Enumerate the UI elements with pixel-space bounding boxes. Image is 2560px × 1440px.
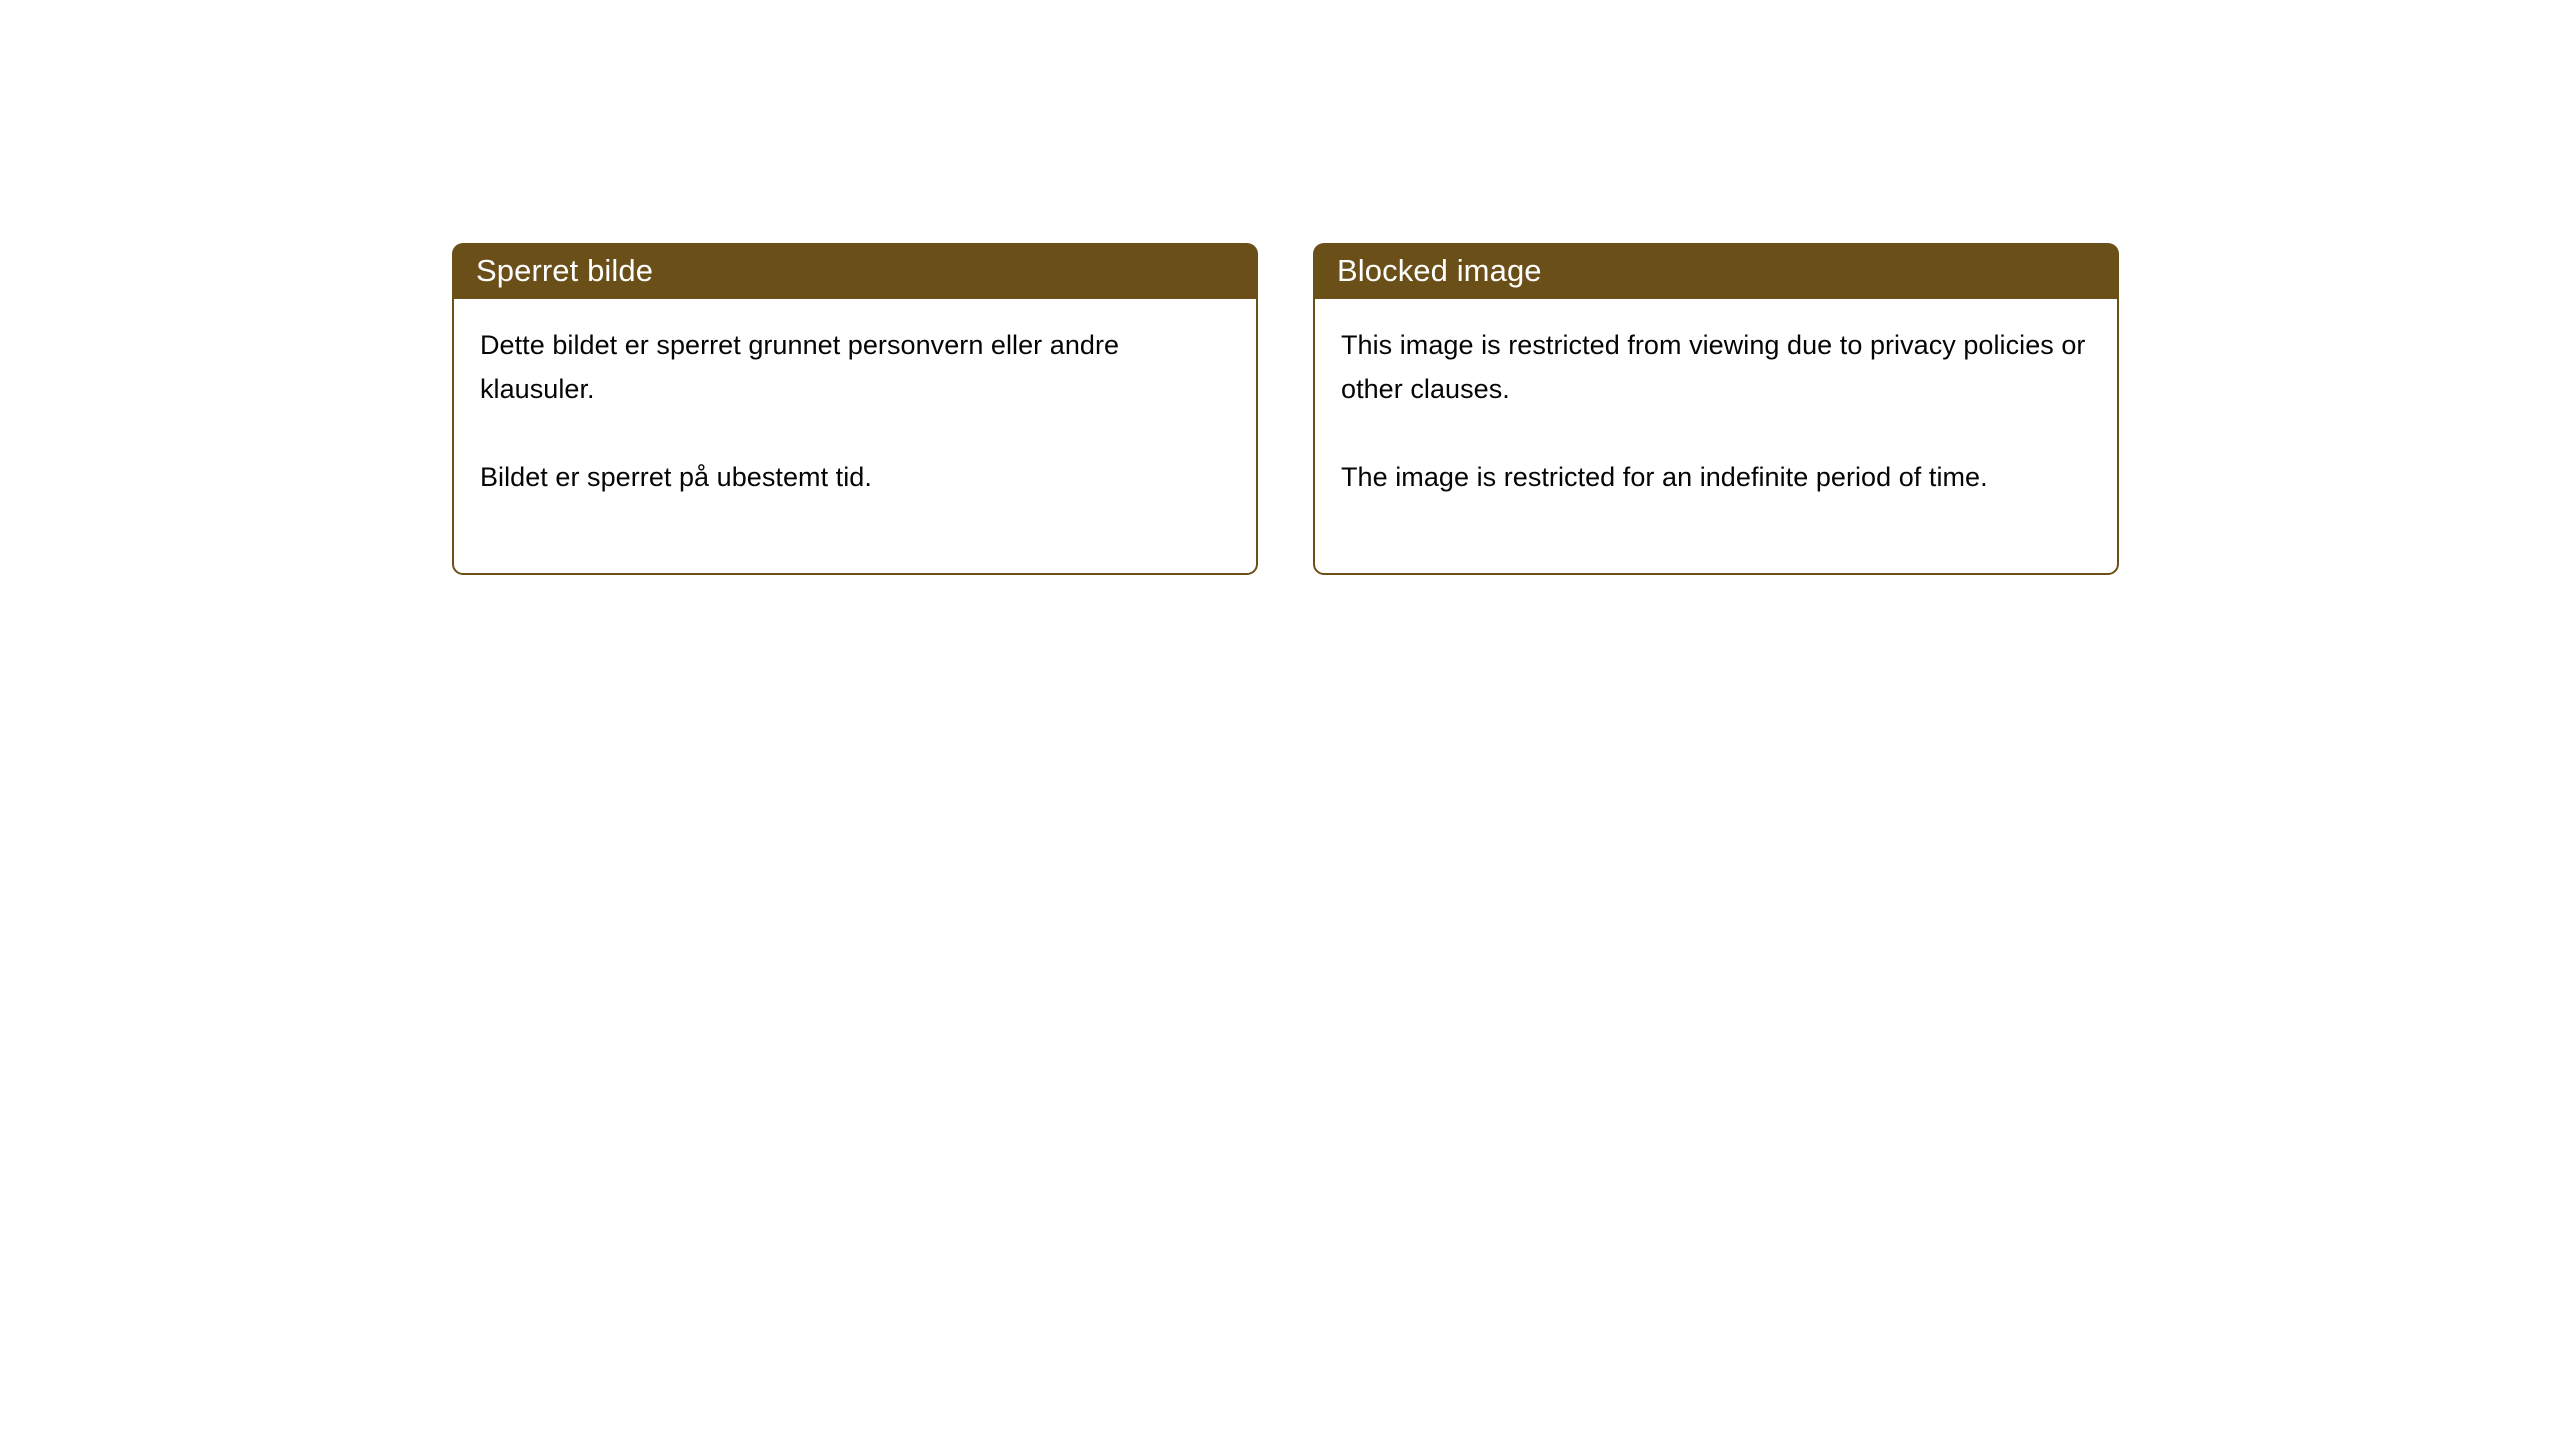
card-body-norwegian: Dette bildet er sperret grunnet personve… [452, 299, 1258, 575]
card-header-english: Blocked image [1313, 243, 2119, 299]
card-body-english: This image is restricted from viewing du… [1313, 299, 2119, 575]
card-paragraph-duration-english: The image is restricted for an indefinit… [1341, 455, 2091, 499]
card-title-english: Blocked image [1337, 254, 1542, 288]
card-paragraph-duration-norwegian: Bildet er sperret på ubestemt tid. [480, 455, 1230, 499]
blocked-image-notice-card-english: Blocked image This image is restricted f… [1313, 243, 2119, 575]
blocked-image-notice-card-norwegian: Sperret bilde Dette bildet er sperret gr… [452, 243, 1258, 575]
page-canvas: Sperret bilde Dette bildet er sperret gr… [0, 0, 2560, 1440]
card-title-norwegian: Sperret bilde [476, 254, 653, 288]
card-paragraph-reason-norwegian: Dette bildet er sperret grunnet personve… [480, 323, 1230, 411]
card-paragraph-reason-english: This image is restricted from viewing du… [1341, 323, 2091, 411]
card-header-norwegian: Sperret bilde [452, 243, 1258, 299]
